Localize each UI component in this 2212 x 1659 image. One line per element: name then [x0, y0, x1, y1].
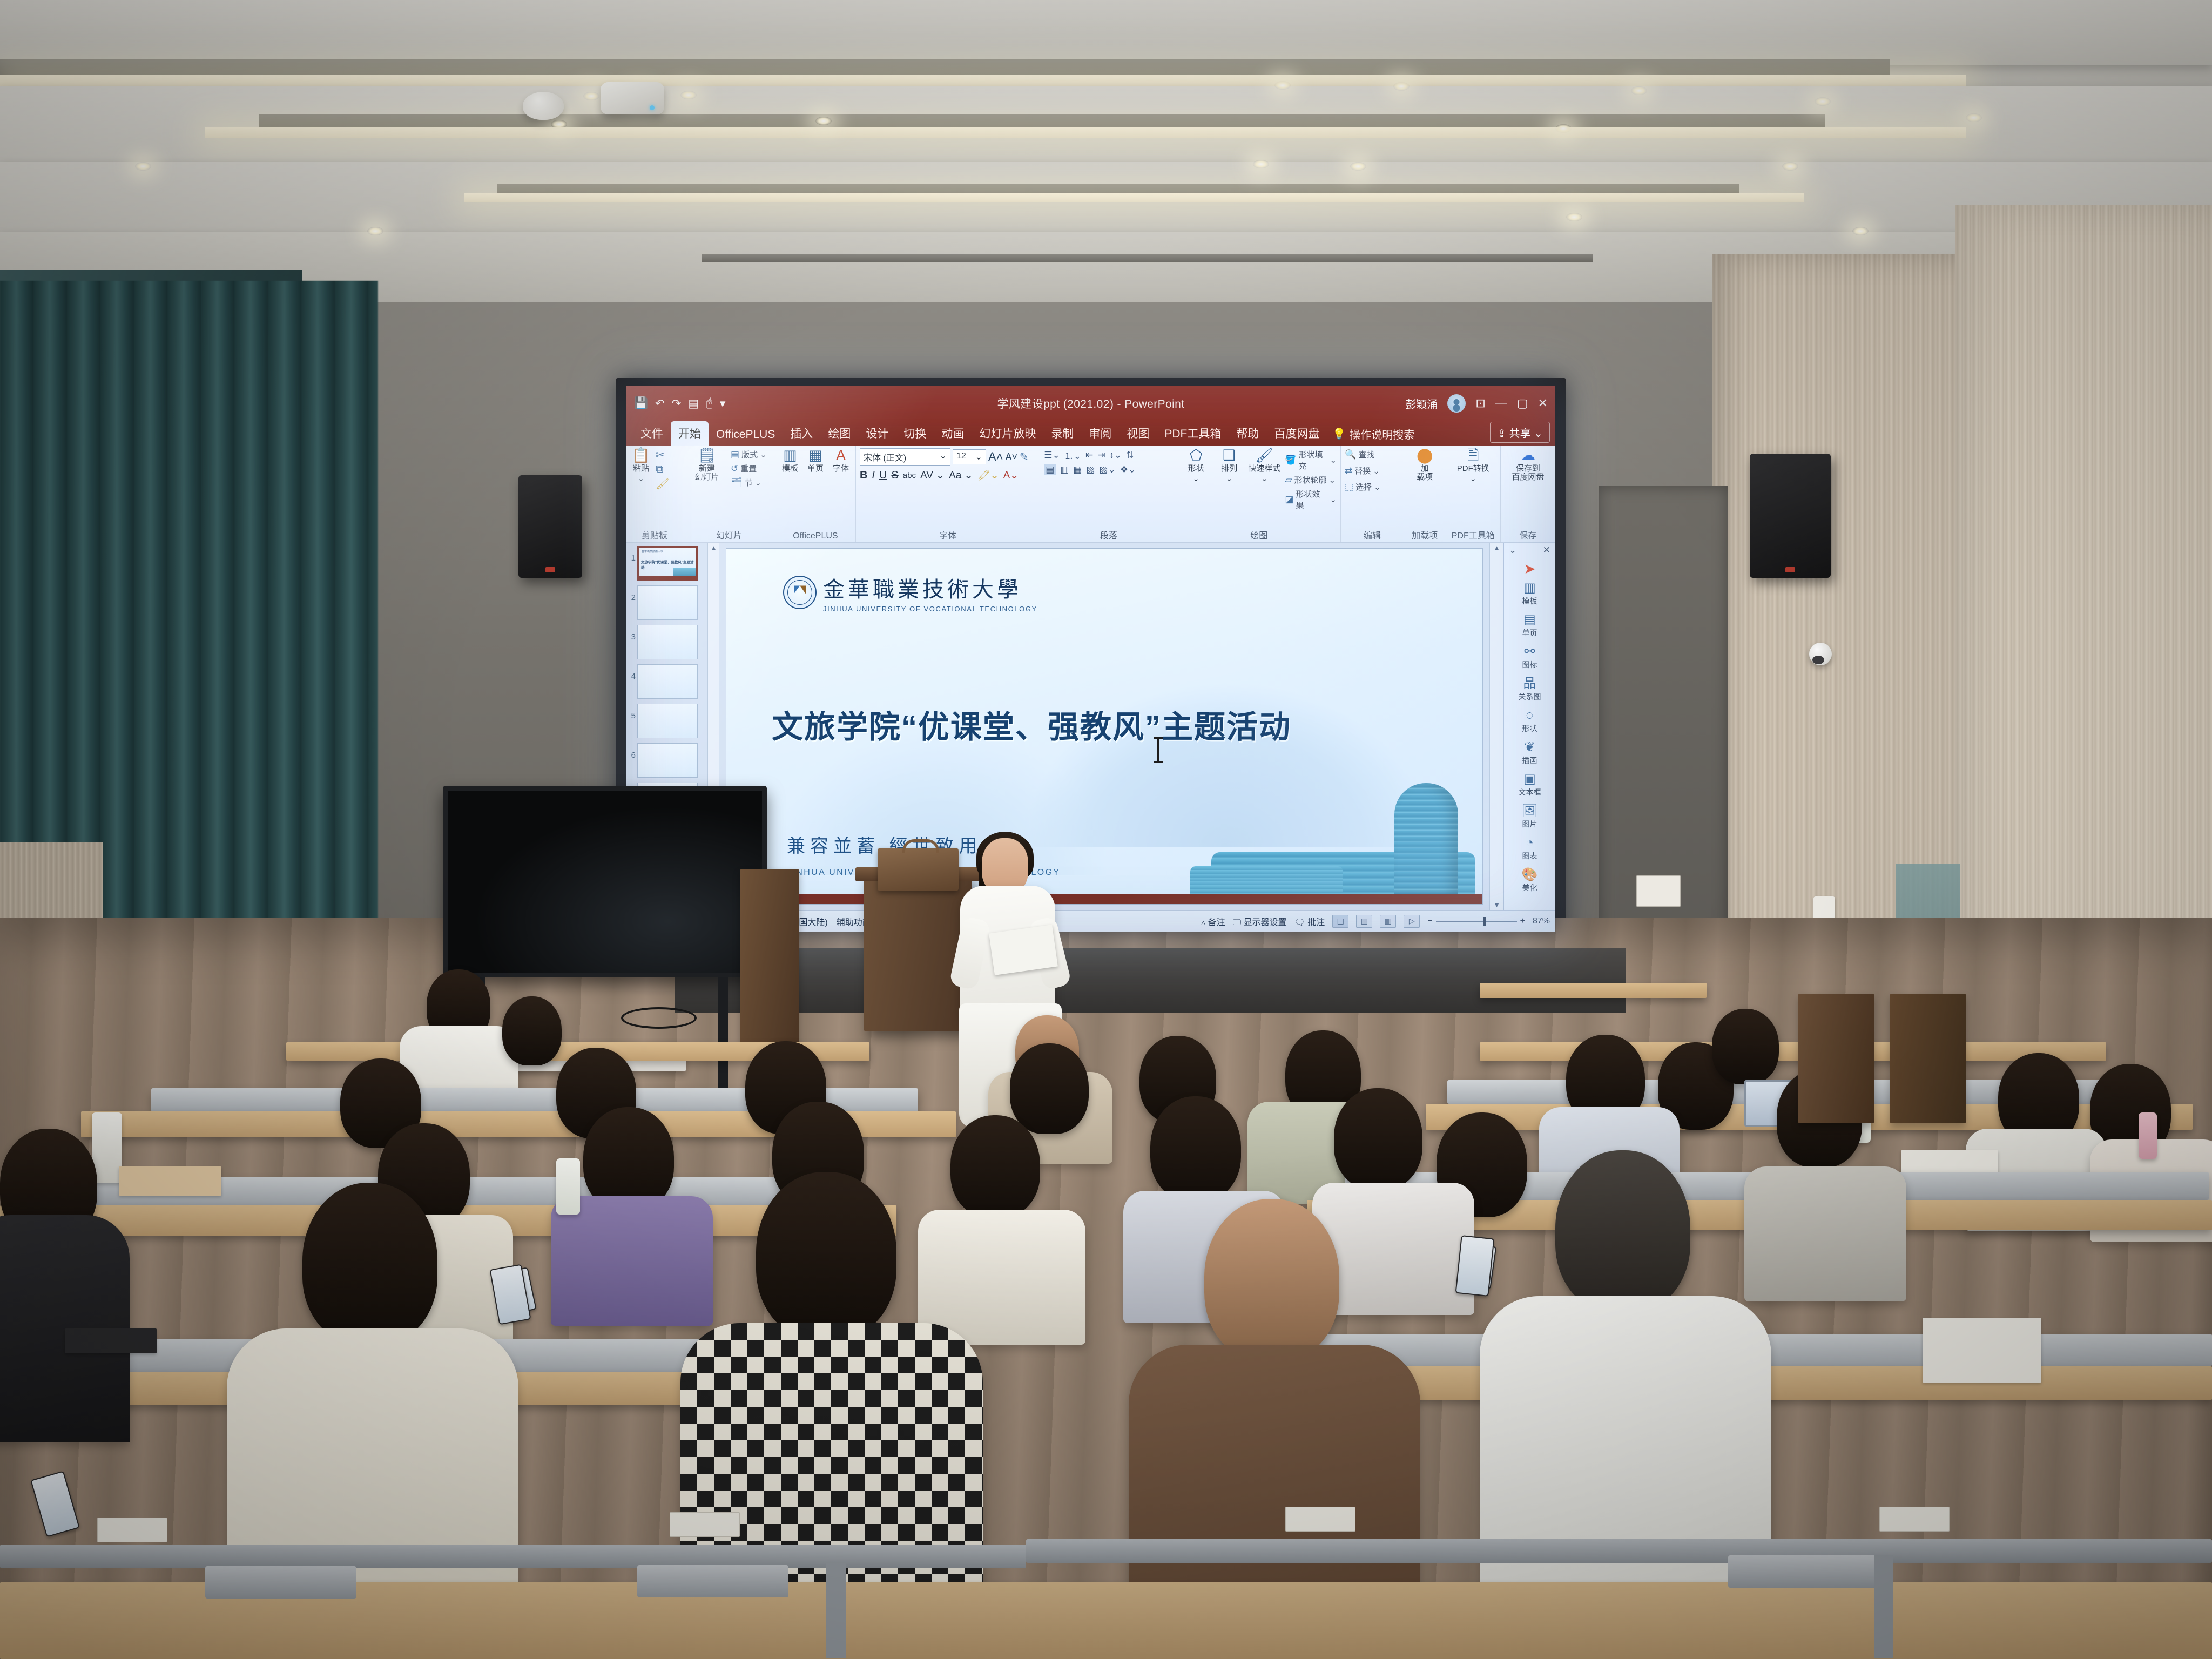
shape-outline-button[interactable]: ▱ 形状轮廓⌄ [1285, 474, 1337, 486]
smartart-icon[interactable]: ❖⌄ [1120, 464, 1136, 475]
side-table [1480, 983, 1707, 998]
avatar[interactable] [1447, 394, 1466, 413]
addins-icon: ⬤ [1417, 448, 1433, 463]
single-page-icon: ▤ [1523, 613, 1536, 626]
tab-transitions[interactable]: 切换 [896, 421, 934, 446]
op-template-button[interactable]: ▥ 模板 [779, 448, 801, 473]
ribbon-tab-strip[interactable]: 文件 开始 OfficePLUS 插入 绘图 设计 切换 动画 幻灯片放映 录制… [626, 421, 1555, 446]
audience-head [583, 1107, 674, 1211]
arrange-button[interactable]: ❏ 排列 ⌄ [1215, 448, 1244, 483]
justify-icon[interactable]: ▧ [1086, 464, 1095, 475]
desk-asset-tag [97, 1518, 167, 1542]
diagram-icon: 品 [1523, 677, 1536, 690]
audience-head [950, 1115, 1040, 1218]
text-cursor-icon [1157, 737, 1159, 763]
select-button[interactable]: ⬚ 选择⌄ [1345, 481, 1381, 493]
font-color-icon[interactable]: A⌄ [1003, 469, 1019, 482]
replace-button[interactable]: ⇄ 替换⌄ [1345, 464, 1381, 477]
officeplus-pane[interactable]: ⌄ ✕ ➤ ▥ 模板 ▤ 单页 ⚯ 图标 品 关系图 ◌ [1503, 543, 1555, 910]
reset-icon: ↺ [731, 463, 738, 474]
pdf-convert-button[interactable]: 🗎 PDF转换 ⌄ [1457, 448, 1489, 483]
replace-icon: ⇄ [1345, 466, 1352, 476]
zoom-in-button[interactable]: + [1520, 916, 1525, 926]
pane-item-singlepage[interactable]: ▤ 单页 [1522, 613, 1537, 638]
new-slide-icon: 🗒 [698, 448, 716, 463]
thumbnail-row[interactable]: 3 [628, 625, 705, 659]
shrink-font-icon[interactable]: A˅ [1005, 451, 1017, 463]
addins-button[interactable]: ⬤ 加 载项 [1414, 448, 1435, 482]
water-bottle [556, 1158, 580, 1215]
desk-asset-tag [1879, 1507, 1950, 1532]
account-name: 彭颖涌 [1405, 396, 1438, 412]
slide-university-logo: 金華職業技術大學 JINHUA UNIVERSITY OF VOCATIONAL… [783, 572, 1037, 613]
desk-leg [1874, 1555, 1893, 1658]
audience-head [302, 1183, 437, 1345]
seat-rail [1026, 1539, 2212, 1563]
italic-button[interactable]: I [872, 469, 875, 482]
bullets-icon[interactable]: ☰⌄ [1044, 450, 1060, 461]
pane-item-diagram[interactable]: 品 关系图 [1519, 677, 1541, 702]
ribbon-group-save: ☁ 保存到 百度网盘 保存 [1501, 446, 1555, 542]
ribbon-group-font: 宋体 (正文)⌄ 12⌄ A˄ A˅ ✎ B I U S [856, 446, 1040, 542]
quick-styles-button[interactable]: 🖌 快速样式 ⌄ [1247, 448, 1281, 483]
ribbon-group-clipboard: 📋 粘贴 ⌄ ✂ ⧉ 🖌 剪贴板 [626, 446, 683, 542]
seat-back [205, 1566, 356, 1599]
audience-head [1334, 1088, 1422, 1190]
undo-icon[interactable]: ↶ [655, 397, 665, 410]
notes-button[interactable]: ▵ 备注 [1201, 915, 1225, 928]
tab-view[interactable]: 视图 [1119, 421, 1157, 446]
ribbon-group-pdf: 🗎 PDF转换 ⌄ PDF工具箱 [1446, 446, 1501, 542]
tell-me-search[interactable]: 💡 操作说明搜索 [1327, 422, 1420, 446]
secondary-monitor [443, 786, 767, 977]
audience-head [1150, 1096, 1241, 1201]
view-reading-button[interactable]: ▥ [1380, 915, 1396, 928]
view-slideshow-button[interactable]: ▷ [1404, 915, 1420, 928]
op-singlepage-button[interactable]: ▦ 单页 [805, 448, 826, 473]
group-label-addins: 加载项 [1408, 527, 1442, 541]
pane-item-picture[interactable]: 🖼 图片 [1521, 805, 1537, 829]
chart-icon: ◔ [1526, 837, 1534, 849]
thumbnail-row[interactable]: 4 [628, 664, 705, 699]
slide-scrollbar[interactable]: ▲ ▼ [1489, 543, 1503, 910]
shape-effects-icon: ◪ [1285, 494, 1293, 505]
share-icon: ⇪ [1497, 428, 1506, 440]
group-label-font: 字体 [860, 527, 1036, 541]
view-sorter-button[interactable]: ▦ [1356, 915, 1372, 928]
cable-loop [621, 1007, 697, 1029]
share-label: 共享 [1509, 428, 1531, 440]
slide-canvas[interactable]: 金華職業技術大學 JINHUA UNIVERSITY OF VOCATIONAL… [719, 543, 1489, 910]
slide-campus-illustration [1135, 776, 1482, 904]
tab-record[interactable]: 录制 [1043, 421, 1081, 446]
textbox-icon: ▣ [1523, 773, 1536, 786]
font-size-input[interactable]: 12⌄ [953, 449, 986, 464]
copy-icon[interactable]: ⧉ [656, 463, 669, 476]
pane-item-illustration[interactable]: ❦ 插画 [1522, 741, 1537, 766]
thumbnail-row[interactable]: 2 [628, 585, 705, 620]
align-center-icon[interactable]: ▥ [1060, 464, 1069, 475]
restore-button[interactable]: ▢ [1517, 396, 1528, 410]
tell-me-label: 操作说明搜索 [1350, 426, 1414, 442]
powerpoint-title-bar: 💾 ↶ ↷ ▤ 🖰 ▾ 学风建设ppt (2021.02) - PowerPoi… [626, 386, 1555, 421]
display-settings-button[interactable]: 🖵 显示器设置 [1233, 915, 1287, 928]
group-label-paragraph: 段落 [1044, 527, 1173, 541]
grow-font-icon[interactable]: A˄ [988, 450, 1003, 464]
zoom-out-button[interactable]: − [1427, 916, 1432, 926]
save-icon[interactable]: 💾 [634, 397, 648, 410]
tab-slideshow[interactable]: 幻灯片放映 [972, 421, 1043, 446]
ribbon-display-options-icon[interactable]: ⊡ [1475, 396, 1485, 410]
audience-torso [1744, 1166, 1906, 1301]
slide-thumbnail-5[interactable] [637, 704, 698, 738]
outdent-icon[interactable]: ⇤ [1085, 450, 1093, 461]
ribbon-group-editing: 🔍 查找 ⇄ 替换⌄ ⬚ 选择⌄ 编辑 [1341, 446, 1404, 542]
slide-bottom-bar [726, 894, 1482, 904]
select-icon: ⬚ [1345, 482, 1353, 493]
seat-back [637, 1565, 788, 1597]
group-label-pdf: PDF工具箱 [1450, 527, 1496, 541]
quick-styles-icon: 🖌 [1255, 448, 1273, 463]
wall-notice [1636, 875, 1681, 907]
desk-asset-tag [1285, 1507, 1355, 1532]
thumbnail-row[interactable]: 6 [628, 743, 705, 778]
tab-home[interactable]: 开始 [671, 421, 709, 446]
close-button[interactable]: ✕ [1538, 396, 1548, 410]
pane-item-beautify[interactable]: 🎨 美化 [1522, 868, 1538, 893]
university-name-en: JINHUA UNIVERSITY OF VOCATIONAL TECHNOLO… [823, 605, 1037, 613]
minimize-button[interactable]: — [1495, 396, 1507, 410]
beautify-icon: 🎨 [1522, 868, 1538, 881]
group-label-slides: 幻灯片 [687, 527, 771, 541]
slide-thumbnail-2[interactable] [637, 585, 698, 620]
presenter-script-paper [989, 925, 1058, 975]
shape-outline-icon: ▱ [1285, 475, 1292, 485]
tab-baidu-netdisk[interactable]: 百度网盘 [1266, 421, 1327, 446]
tab-design[interactable]: 设计 [858, 421, 896, 446]
audience-head [502, 996, 562, 1065]
desk-asset-tag [670, 1512, 740, 1537]
indent-icon[interactable]: ⇥ [1097, 450, 1105, 461]
format-painter-icon[interactable]: 🖌 [656, 477, 669, 491]
shape-effects-button[interactable]: ◪ 形状效果⌄ [1285, 488, 1337, 511]
shapes-icon: ◌ [1526, 709, 1533, 722]
desk-keys [65, 1328, 157, 1353]
search-icon: 🔍 [1345, 449, 1356, 460]
audience-head [1204, 1199, 1339, 1361]
group-label-drawing: 绘图 [1181, 527, 1337, 541]
baidu-cloud-icon: ☁ [1521, 448, 1535, 463]
view-normal-button[interactable]: ▤ [1332, 915, 1348, 928]
lecture-hall-scene: 💾 ↶ ↷ ▤ 🖰 ▾ 学风建设ppt (2021.02) - PowerPoi… [0, 0, 2212, 1659]
audience-torso [918, 1210, 1085, 1345]
line-spacing-icon[interactable]: ↕⌄ [1110, 450, 1122, 461]
seat-back [1728, 1555, 1879, 1588]
wall-speaker-right [1750, 454, 1831, 578]
group-label-officeplus: OfficePLUS [779, 530, 852, 541]
tab-draw[interactable]: 绘图 [820, 421, 858, 446]
pane-collapse-icon[interactable]: ⌄ [1509, 545, 1516, 556]
text-direction-icon[interactable]: ⇅ [1126, 450, 1134, 461]
thumbnail-row[interactable]: 1 金華職業技術大學 文旅学院“优课堂、强教风”主题活动 [628, 546, 705, 581]
audience-head [756, 1172, 896, 1339]
pdf-convert-icon: 🗎 [1467, 448, 1479, 463]
group-label-clipboard: 剪贴板 [630, 527, 679, 541]
underline-button[interactable]: U [879, 469, 887, 482]
slide-thumbnail-6[interactable] [637, 743, 698, 778]
audience-torso [551, 1196, 713, 1326]
shadow-button[interactable]: S [891, 469, 898, 482]
template-icon: ▥ [783, 448, 797, 463]
bold-button[interactable]: B [860, 469, 867, 482]
redo-icon[interactable]: ↷ [672, 397, 682, 410]
notebook-open [1923, 1318, 2041, 1382]
shapes-button[interactable]: ⬠ 形状 ⌄ [1181, 448, 1210, 483]
find-button[interactable]: 🔍 查找 [1345, 448, 1381, 461]
slide-thumbnail-4[interactable] [637, 664, 698, 699]
font-name-input[interactable]: 宋体 (正文)⌄ [860, 448, 950, 466]
align-right-icon[interactable]: ▦ [1073, 464, 1082, 475]
section-icon: 🗂 [731, 477, 743, 488]
ribbon-home[interactable]: 📋 粘贴 ⌄ ✂ ⧉ 🖌 剪贴板 🗒 新建 幻灯片 [626, 446, 1555, 543]
thumbnail-row[interactable]: 5 [628, 704, 705, 738]
quick-access-toolbar[interactable]: 💾 ↶ ↷ ▤ 🖰 ▾ [634, 397, 725, 410]
seat-rail [0, 1545, 1026, 1568]
group-label-editing: 编辑 [1345, 527, 1400, 541]
character-spacing-button[interactable]: AV ⌄ [920, 469, 945, 482]
motion-sensor-icon [601, 82, 664, 114]
align-left-icon[interactable]: ▤ [1044, 464, 1056, 475]
lightbulb-icon: 💡 [1332, 427, 1346, 441]
tab-file[interactable]: 文件 [633, 421, 671, 446]
change-case-button[interactable]: Aa ⌄ [949, 469, 973, 482]
officeplus-logo-icon: ➤ [1524, 561, 1536, 577]
pane-item-shapes[interactable]: ◌ 形状 [1522, 709, 1537, 734]
university-seal-icon [783, 576, 817, 609]
shape-fill-button[interactable]: 🪣 形状填充⌄ [1285, 448, 1337, 472]
tab-review[interactable]: 审阅 [1081, 421, 1119, 446]
picture-icon: 🖼 [1521, 805, 1537, 818]
smoke-detector-icon [523, 92, 564, 120]
clear-format-icon[interactable]: ✎ [1020, 450, 1029, 464]
zoom-slider[interactable]: − + [1427, 916, 1525, 926]
shapes-icon: ⬠ [1190, 448, 1202, 463]
ribbon-group-slides: 🗒 新建 幻灯片 ▤ 版式 ⌄ ↺ 重置 🗂 节 ⌄ [683, 446, 775, 542]
new-slide-button[interactable]: 🗒 新建 幻灯片 [687, 448, 727, 482]
customize-qat-icon[interactable]: ▾ [720, 397, 726, 410]
slide-thumbnail-3[interactable] [637, 625, 698, 659]
tab-help[interactable]: 帮助 [1229, 421, 1266, 446]
scissors-icon[interactable]: ✂ [656, 448, 669, 462]
thumb-logo: 金華職業技術大學 [642, 550, 663, 554]
illustration-icon: ❦ [1524, 741, 1535, 754]
ribbon-group-officeplus: ▥ 模板 ▦ 单页 A 字体 OfficePLUS [775, 446, 856, 542]
audience-torso [1480, 1296, 1771, 1631]
present-icon[interactable]: ▤ [688, 397, 699, 410]
desk-leg [826, 1563, 846, 1658]
op-font-button[interactable]: A 字体 [830, 448, 852, 473]
ribbon-group-paragraph: ☰⌄ ⒈⌄ ⇤ ⇥ ↕⌄ ⇅ ▤ ▥ ▦ ▧ ▨⌄ ❖⌄ [1040, 446, 1177, 542]
university-name-cn: 金華職業技術大學 [823, 572, 1037, 603]
water-bottle [2139, 1112, 2157, 1159]
pane-item-textbox[interactable]: ▣ 文本框 [1519, 773, 1541, 798]
shape-fill-icon: 🪣 [1285, 455, 1296, 466]
ribbon-group-addins: ⬤ 加 载项 加载项 [1404, 446, 1446, 542]
reset-button[interactable]: ↺ 重置 [731, 462, 767, 475]
side-chair [740, 869, 799, 1048]
thumb-redbar [639, 576, 696, 579]
pane-close-icon[interactable]: ✕ [1543, 545, 1550, 556]
audience-head [1555, 1150, 1690, 1312]
numbering-icon[interactable]: ⒈⌄ [1064, 448, 1081, 462]
start-slideshow-icon[interactable]: 🖰 [706, 397, 713, 410]
font-art-icon: A [836, 448, 846, 463]
stage-riser [675, 948, 1626, 1013]
wooden-chair [1890, 994, 1966, 1123]
wall-speaker-left [518, 475, 582, 578]
arrange-icon: ❏ [1223, 448, 1236, 463]
stack-of-books [119, 1166, 221, 1196]
paste-icon: 📋 [632, 448, 650, 463]
tab-pdf-toolbox[interactable]: PDF工具箱 [1157, 421, 1229, 446]
comments-button[interactable]: 🗨 批注 [1294, 915, 1325, 928]
scroll-up-icon[interactable]: ▲ [1493, 544, 1500, 552]
scroll-down-icon[interactable]: ▼ [1493, 901, 1500, 909]
slide-thumbnail-1[interactable]: 金華職業技術大學 文旅学院“优课堂、强教风”主题活动 [637, 546, 698, 581]
save-to-baidu-button[interactable]: ☁ 保存到 百度网盘 [1512, 448, 1544, 482]
single-page-icon: ▦ [808, 448, 822, 463]
pane-item-chart[interactable]: ◔ 图表 [1522, 837, 1537, 861]
pane-item-icons[interactable]: ⚯ 图标 [1522, 645, 1537, 670]
ribbon-group-drawing: ⬠ 形状 ⌄ ❏ 排列 ⌄ 🖌 快速样式 ⌄ [1177, 446, 1341, 542]
tab-animations[interactable]: 动画 [934, 421, 972, 446]
security-camera-icon [1809, 643, 1832, 665]
audience-head [1010, 1043, 1089, 1134]
briefcase [878, 848, 959, 891]
layout-button[interactable]: ▤ 版式 ⌄ [731, 448, 767, 461]
strikethrough-button[interactable]: abc [903, 471, 916, 480]
highlight-icon[interactable]: 🖍⌄ [977, 469, 999, 482]
group-label-save: 保存 [1505, 527, 1552, 541]
pane-item-template[interactable]: ▥ 模板 [1522, 582, 1537, 606]
tab-insert[interactable]: 插入 [783, 421, 820, 446]
icons-icon: ⚯ [1524, 645, 1535, 658]
layout-icon: ▤ [731, 449, 739, 460]
audience-head [1712, 1009, 1779, 1084]
template-icon: ▥ [1523, 582, 1536, 595]
current-slide[interactable]: 金華職業技術大學 JINHUA UNIVERSITY OF VOCATIONAL… [726, 548, 1483, 905]
slide-title: 文旅学院“优课堂、强教风”主题活动 [772, 702, 1452, 747]
share-button[interactable]: ⇪ 共享 ⌄ [1490, 422, 1550, 443]
paste-button[interactable]: 📋 粘贴 ⌄ [630, 448, 652, 483]
scroll-up-icon[interactable]: ▲ [710, 544, 717, 552]
section-button[interactable]: 🗂 节 ⌄ [731, 476, 767, 489]
tab-officeplus[interactable]: OfficePLUS [709, 424, 783, 446]
wooden-chair [1798, 994, 1874, 1123]
audience-phone [1455, 1235, 1495, 1297]
columns-icon[interactable]: ▨⌄ [1100, 464, 1116, 475]
zoom-level-label[interactable]: 87% [1533, 916, 1550, 926]
